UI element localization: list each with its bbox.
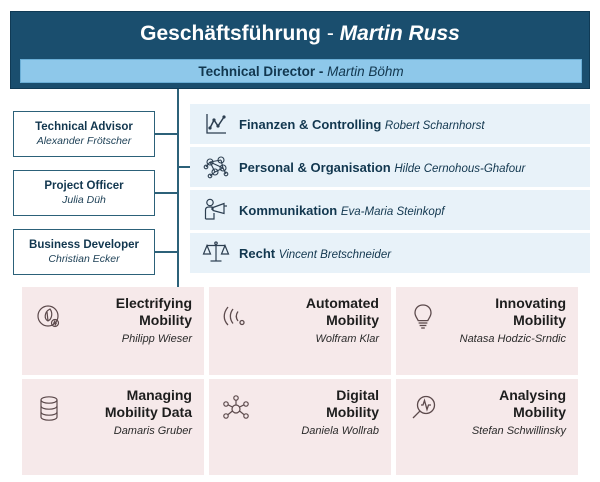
unit-title-line1: Automated (263, 295, 379, 312)
connector-staff-2 (155, 251, 178, 253)
unit-title-line2: Mobility (263, 404, 379, 421)
unit-title-line2: Mobility (76, 312, 192, 329)
leaf-circle-icon (22, 287, 76, 375)
managing-director-header: Geschäftsführung - Martin Russ Technical… (10, 11, 590, 89)
unit-person: Natasa Hodzic-Srndic (450, 331, 566, 347)
unit-text: Electrifying Mobility Philipp Wieser (76, 287, 204, 347)
unit-title-line2: Mobility (450, 312, 566, 329)
magnifier-pulse-icon (396, 379, 450, 467)
unit-text: Automated Mobility Wolfram Klar (263, 287, 391, 347)
unit-panel-innovating-mobility[interactable]: Innovating Mobility Natasa Hodzic-Srndic (396, 287, 578, 375)
staff-role: Project Officer (44, 179, 123, 193)
unit-text: Managing Mobility Data Damaris Gruber (76, 379, 204, 439)
staff-name: Christian Ecker (48, 252, 119, 266)
unit-title-line1: Analysing (450, 387, 566, 404)
technical-director-name: Martin Böhm (327, 64, 404, 79)
department-name: Finanzen & Controlling (239, 117, 381, 132)
unit-panel-managing-mobility-data[interactable]: Managing Mobility Data Damaris Gruber (22, 379, 204, 475)
unit-title-line1: Digital (263, 387, 379, 404)
technical-director-text: Technical Director - Martin Böhm (198, 64, 403, 79)
department-name: Kommunikation (239, 203, 337, 218)
people-network-icon (198, 152, 234, 182)
staff-name: Julia Düh (62, 193, 106, 207)
trunk-connector-line (177, 89, 179, 289)
department-text: Personal & Organisation Hilde Cernohous-… (239, 160, 525, 175)
staff-box-technical-advisor[interactable]: Technical Advisor Alexander Frötscher (13, 111, 155, 157)
department-person: Robert Scharnhorst (385, 120, 485, 132)
unit-title-line2: Mobility Data (76, 404, 192, 421)
staff-box-business-developer[interactable]: Business Developer Christian Ecker (13, 229, 155, 275)
unit-title-line1: Electrifying (76, 295, 192, 312)
department-name: Personal & Organisation (239, 160, 391, 175)
unit-panel-digital-mobility[interactable]: Digital Mobility Daniela Wollrab (209, 379, 391, 475)
org-title: Geschäftsführung - Martin Russ (11, 21, 589, 47)
unit-person: Stefan Schwillinsky (450, 423, 566, 439)
scales-of-justice-icon (198, 238, 234, 268)
connector-staff-0 (155, 133, 178, 135)
org-title-separator: - (321, 22, 340, 45)
department-person: Hilde Cernohous-Ghafour (394, 163, 525, 175)
unit-panel-analysing-mobility[interactable]: Analysing Mobility Stefan Schwillinsky (396, 379, 578, 475)
org-title-name: Martin Russ (340, 22, 460, 45)
department-row-kommunikation[interactable]: Kommunikation Eva-Maria Steinkopf (190, 190, 590, 230)
unit-panel-automated-mobility[interactable]: Automated Mobility Wolfram Klar (209, 287, 391, 375)
unit-panel-electrifying-mobility[interactable]: Electrifying Mobility Philipp Wieser (22, 287, 204, 375)
megaphone-person-icon (198, 195, 234, 225)
technical-director-band: Technical Director - Martin Böhm (20, 59, 582, 83)
unit-text: Digital Mobility Daniela Wollrab (263, 379, 391, 439)
org-chart: Geschäftsführung - Martin Russ Technical… (0, 0, 600, 482)
unit-person: Philipp Wieser (76, 331, 192, 347)
unit-title-line2: Mobility (450, 404, 566, 421)
department-text: Recht Vincent Bretschneider (239, 246, 391, 261)
staff-role: Business Developer (29, 238, 139, 252)
unit-title-line2: Mobility (263, 312, 379, 329)
staff-role: Technical Advisor (35, 120, 133, 134)
department-row-recht[interactable]: Recht Vincent Bretschneider (190, 233, 590, 273)
department-name: Recht (239, 246, 275, 261)
department-person: Vincent Bretschneider (279, 249, 391, 261)
unit-person: Damaris Gruber (76, 423, 192, 439)
technical-director-role: Technical Director - (198, 64, 327, 79)
department-row-personal-organisation[interactable]: Personal & Organisation Hilde Cernohous-… (190, 147, 590, 187)
connector-staff-1 (155, 192, 178, 194)
unit-person: Wolfram Klar (263, 331, 379, 347)
department-person: Eva-Maria Steinkopf (341, 206, 445, 218)
unit-title-line1: Innovating (450, 295, 566, 312)
signal-waves-icon (209, 287, 263, 375)
unit-text: Analysing Mobility Stefan Schwillinsky (450, 379, 578, 439)
unit-title-line1: Managing (76, 387, 192, 404)
unit-text: Innovating Mobility Natasa Hodzic-Srndic (450, 287, 578, 347)
lightbulb-icon (396, 287, 450, 375)
department-text: Finanzen & Controlling Robert Scharnhors… (239, 117, 485, 132)
unit-person: Daniela Wollrab (263, 423, 379, 439)
org-title-label: Geschäftsführung (140, 22, 321, 45)
department-row-finanzen-controlling[interactable]: Finanzen & Controlling Robert Scharnhors… (190, 104, 590, 144)
staff-name: Alexander Frötscher (37, 134, 132, 148)
department-text: Kommunikation Eva-Maria Steinkopf (239, 203, 444, 218)
hub-network-icon (209, 379, 263, 467)
staff-box-project-officer[interactable]: Project Officer Julia Düh (13, 170, 155, 216)
database-icon (22, 379, 76, 467)
line-chart-icon (198, 109, 234, 139)
